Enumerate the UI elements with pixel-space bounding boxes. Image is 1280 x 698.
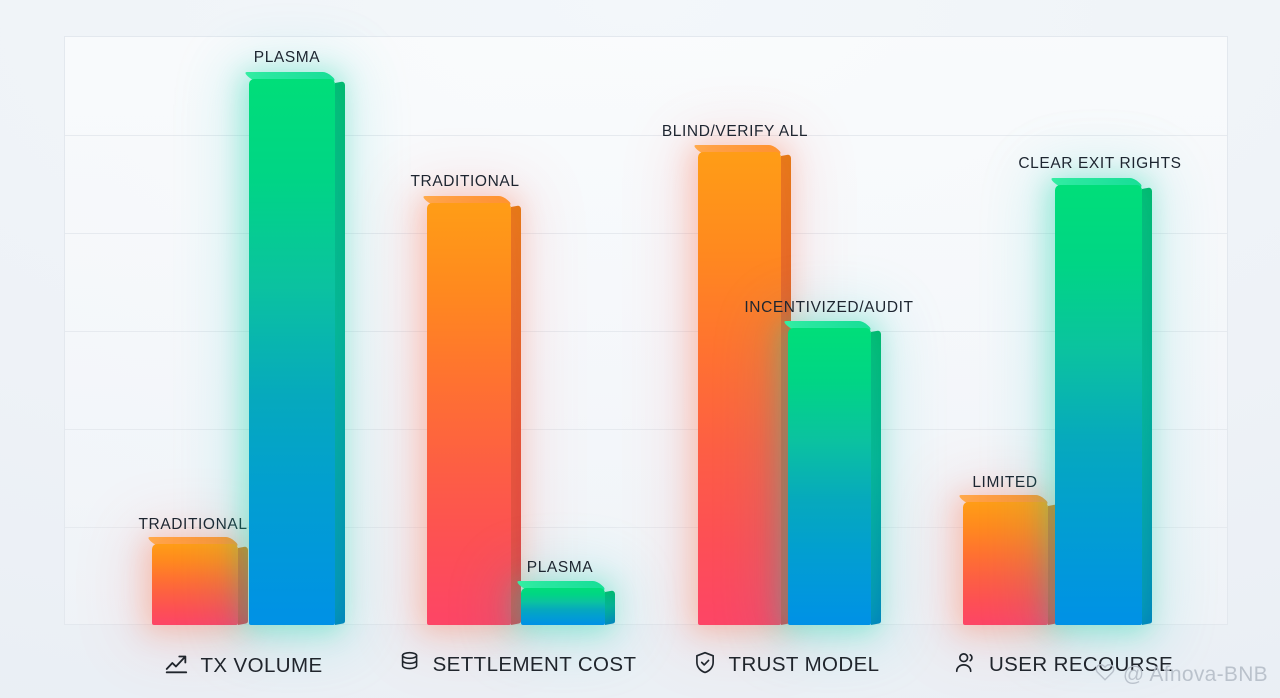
category-axis: TX VOLUMESETTLEMENT COSTTRUST MODELUSER …	[64, 636, 1228, 692]
bar-front-face	[152, 544, 238, 625]
bar-front-face	[249, 79, 335, 625]
bar-front-face	[1055, 185, 1142, 625]
chart-screenshot: TRADITIONALPLASMATRADITIONALPLASMABLIND/…	[0, 0, 1280, 698]
bar-label-recourse-limited: LIMITED	[972, 474, 1037, 492]
category-tx-volume[interactable]: TX VOLUME	[163, 650, 322, 681]
bar-settlement-plasma[interactable]	[521, 588, 605, 625]
shield-check-icon	[693, 650, 718, 680]
database-icon	[398, 650, 422, 679]
category-label: USER RECOURSE	[989, 653, 1173, 677]
gridline-2	[65, 233, 1227, 234]
category-label: TX VOLUME	[200, 654, 322, 678]
bar-side-face	[511, 205, 521, 625]
bar-tx-volume-traditional[interactable]	[152, 544, 238, 625]
category-trust-model[interactable]: TRUST MODEL	[693, 650, 880, 680]
bar-label-tx-volume-plasma: PLASMA	[254, 49, 321, 67]
bar-recourse-clear-exit[interactable]	[1055, 185, 1142, 625]
bar-tx-volume-plasma[interactable]	[249, 79, 335, 625]
bar-recourse-limited[interactable]	[963, 502, 1048, 625]
trending-up-icon	[163, 650, 189, 681]
bar-settlement-traditional[interactable]	[427, 203, 511, 625]
bar-front-face	[698, 152, 781, 625]
bar-label-trust-incentivized: INCENTIVIZED/AUDIT	[744, 299, 913, 317]
user-icon	[953, 650, 978, 680]
bar-side-face	[871, 330, 881, 625]
category-user-recourse[interactable]: USER RECOURSE	[953, 650, 1173, 680]
gridline-3	[65, 331, 1227, 332]
bar-label-settlement-traditional: TRADITIONAL	[410, 173, 519, 191]
bar-label-recourse-clear-exit: CLEAR EXIT RIGHTS	[1018, 155, 1181, 173]
bar-front-face	[427, 203, 511, 625]
bar-side-face	[1142, 187, 1152, 625]
category-settlement-cost[interactable]: SETTLEMENT COST	[398, 650, 637, 679]
bar-side-face	[238, 546, 248, 625]
gridline-4	[65, 429, 1227, 430]
bar-side-face	[335, 81, 345, 625]
bar-label-settlement-plasma: PLASMA	[527, 559, 594, 577]
bar-front-face	[788, 328, 871, 625]
bar-label-tx-volume-traditional: TRADITIONAL	[138, 516, 247, 534]
bar-trust-blind-verify[interactable]	[698, 152, 781, 625]
category-label: TRUST MODEL	[729, 653, 880, 677]
bar-label-trust-blind-verify: BLIND/VERIFY ALL	[662, 123, 808, 141]
bar-front-face	[521, 588, 605, 625]
category-label: SETTLEMENT COST	[433, 653, 637, 677]
bar-side-face	[605, 590, 615, 625]
gridline-1	[65, 135, 1227, 136]
bar-front-face	[963, 502, 1048, 625]
bar-trust-incentivized[interactable]	[788, 328, 871, 625]
